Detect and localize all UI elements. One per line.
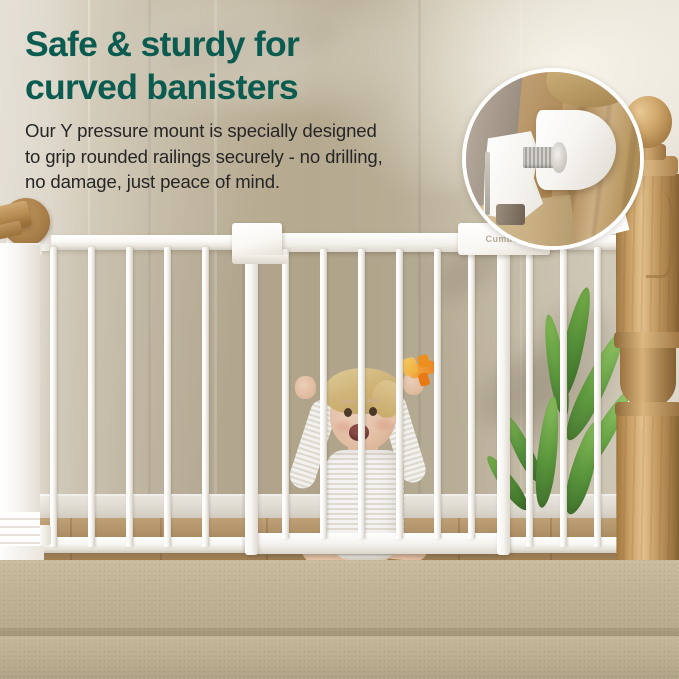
gate-bar (434, 249, 441, 539)
carpet-landing (0, 560, 679, 632)
gate-bar (50, 247, 57, 547)
headline-line-2: curved banisters (25, 66, 455, 109)
subcopy-line-3: no damage, just peace of mind. (25, 169, 463, 195)
gate-bar (164, 247, 171, 547)
gate-bar (526, 247, 533, 547)
newel-strap (646, 192, 674, 278)
baby-gate: Cumbor (36, 225, 648, 565)
page-title: Safe & sturdy for curved banisters (25, 23, 455, 109)
inset-mount-edge (485, 152, 490, 215)
y-pressure-mount-closeup (462, 68, 644, 250)
gate-bar (396, 249, 403, 539)
stair-riser (0, 636, 679, 679)
gate-bar (358, 249, 365, 539)
gate-bar (560, 247, 567, 547)
subcopy: Our Y pressure mount is specially design… (25, 118, 463, 195)
gate-door-hinge-stile (245, 233, 258, 555)
gate-bar (282, 249, 289, 539)
inset-mount-clip (496, 204, 526, 225)
subcopy-line-2: to grip rounded railings securely - no d… (25, 144, 463, 170)
latch-housing-lip (232, 255, 288, 264)
latch-housing[interactable] (232, 223, 282, 257)
headline-line-1: Safe & sturdy for (25, 23, 455, 66)
gate-bar (126, 247, 133, 547)
newel-ring (615, 402, 679, 416)
gate-bar (594, 247, 601, 547)
gate-bar (88, 247, 95, 547)
gate-bar (468, 249, 475, 539)
newel-vase (620, 346, 676, 406)
newel-ring (614, 332, 679, 348)
gate-bar (202, 247, 209, 547)
gate-door-latch-stile (497, 233, 510, 555)
detail-callout (462, 68, 644, 250)
subcopy-line-1: Our Y pressure mount is specially design… (25, 118, 463, 144)
gate-bar (320, 249, 327, 539)
inset-screw-head (551, 142, 567, 173)
product-image-canvas: Cumbor (0, 0, 679, 679)
